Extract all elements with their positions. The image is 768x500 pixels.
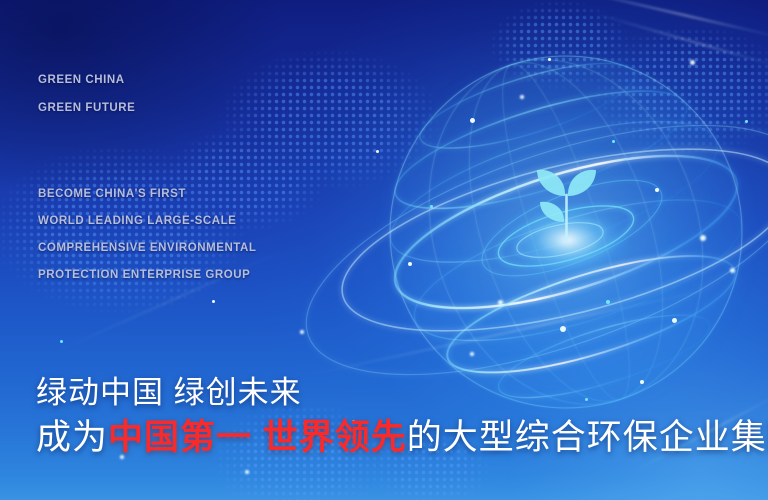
slogan-block-line-2: WORLD LEADING LARGE-SCALE — [38, 215, 236, 227]
slogan-block-line-1: BECOME CHINA'S FIRST — [38, 188, 186, 200]
slogan-en-line-2: GREEN FUTURE — [38, 102, 135, 114]
headline-cn-line-2: 成为中国第一 世界领先的大型综合环保企业集团 — [36, 409, 768, 460]
slogan-en-line-1: GREEN CHINA — [38, 74, 125, 86]
banner-image: GREEN CHINA GREEN FUTURE BECOME CHINA'S … — [0, 0, 768, 500]
headline-highlight: 中国第一 世界领先 — [108, 418, 407, 457]
slogan-block-line-3: COMPREHENSIVE ENVIRONMENTAL — [38, 242, 256, 254]
headline-suffix: 的大型综合环保企业集团 — [407, 418, 768, 457]
headline-cn-line-1: 绿动中国 绿创未来 — [36, 367, 302, 412]
slogan-block-line-4: PROTECTION ENTERPRISE GROUP — [38, 269, 250, 281]
headline-prefix: 成为 — [36, 418, 108, 457]
text-layer: GREEN CHINA GREEN FUTURE BECOME CHINA'S … — [0, 0, 768, 500]
